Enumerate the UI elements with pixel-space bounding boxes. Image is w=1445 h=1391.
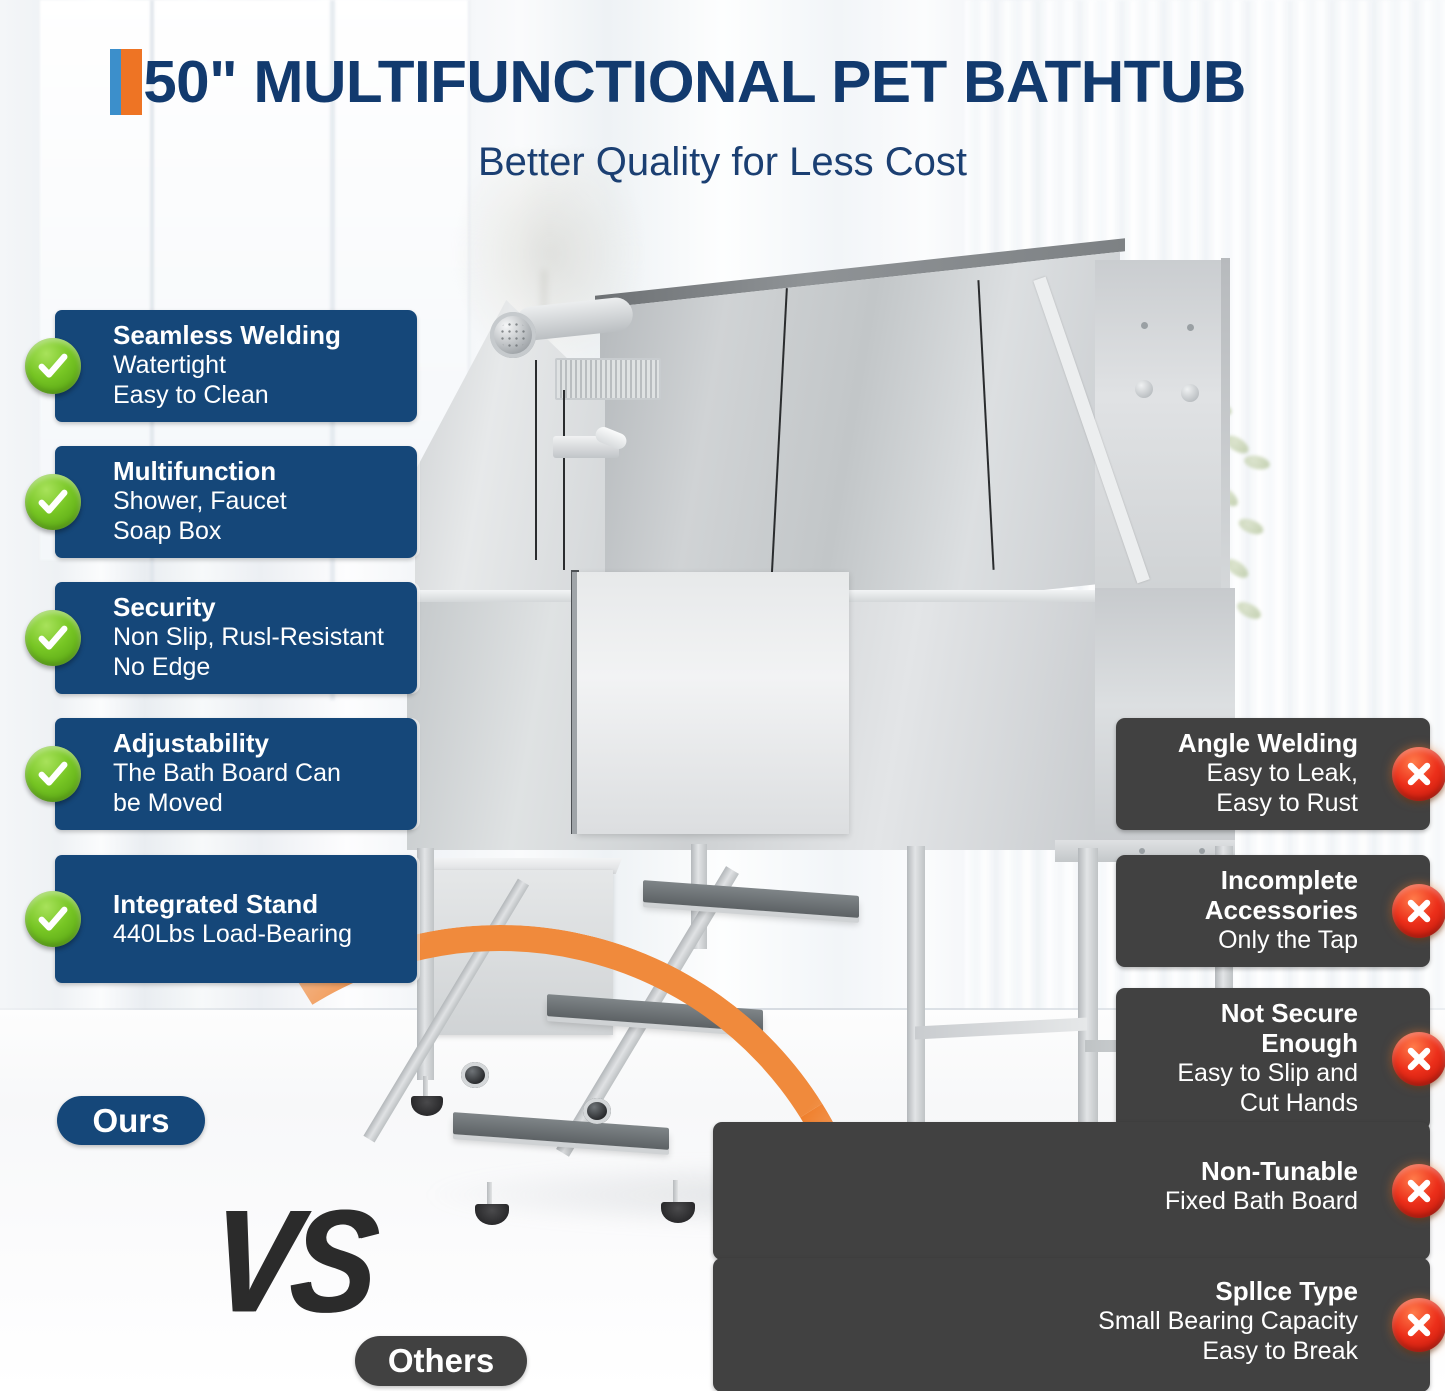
ours-badge: Ours [57,1096,205,1145]
feature-line: Non Slip, Rusl-Resistant [113,622,403,652]
stand-leg-4 [1078,848,1098,1168]
feature-title: Seamless Welding [113,320,403,350]
feature-line: 440Lbs Load-Bearing [113,919,403,949]
drawback-line: Easy to Leak, [1134,758,1358,788]
adjustable-foot-2 [475,1204,509,1225]
x-circle-icon [1392,884,1445,938]
check-circle-icon [25,746,81,802]
drawback-title: Not Secure [1134,998,1358,1028]
drawback-line: Fixed Bath Board [731,1186,1358,1216]
drawback-line: Easy to Slip and [1134,1058,1358,1088]
check-circle-icon [25,610,81,666]
caster-wheel-2 [583,1098,611,1124]
feature-box-integrated-stand[interactable]: Integrated Stand 440Lbs Load-Bearing [55,855,417,983]
feature-line: Soap Box [113,516,403,546]
feature-box-adjustability[interactable]: Adjustability The Bath Board Can be Move… [55,718,417,830]
stand-rail-cross [915,1017,1087,1039]
drawback-line: Only the Tap [1134,925,1358,955]
feature-line: The Bath Board Can [113,758,403,788]
feature-box-security[interactable]: Security Non Slip, Rusl-Resistant No Edg… [55,582,417,694]
product-image [395,240,1155,1250]
feature-title: Multifunction [113,456,403,486]
versus-mark: VS [205,1178,377,1346]
x-circle-icon [1392,1298,1445,1352]
adjustable-foot-3 [661,1202,695,1223]
drawback-line: Cut Hands [1134,1088,1358,1118]
page-title: 50" MULTIFUNCTIONAL PET BATHTUB [143,48,1246,116]
drawback-title2: Enough [1134,1028,1358,1058]
drawback-line: Easy to Rust [1134,788,1358,818]
side-wing-edge [1221,258,1230,608]
feature-box-multifunction[interactable]: Multifunction Shower, Faucet Soap Box [55,446,417,558]
infographic-page: 50" MULTIFUNCTIONAL PET BATHTUB Better Q… [0,0,1445,1391]
check-circle-icon [25,891,81,947]
drawback-title: Incomplete [1134,865,1358,895]
feature-line: No Edge [113,652,403,682]
drawback-box-incomplete-accessories[interactable]: Incomplete Accessories Only the Tap [1116,855,1430,967]
check-circle-icon [25,338,81,394]
shower-head-icon [490,312,536,358]
drawback-title: Spllce Type [731,1276,1358,1306]
caster-wheel-1 [461,1062,489,1088]
feature-title: Adjustability [113,728,403,758]
side-wing-panel [1095,260,1230,600]
drawback-box-not-secure-enough[interactable]: Not Secure Enough Easy to Slip and Cut H… [1116,988,1430,1130]
check-circle-icon [25,474,81,530]
x-circle-icon [1392,1032,1445,1086]
feature-title: Integrated Stand [113,889,403,919]
feature-box-seamless-welding[interactable]: Seamless Welding Watertight Easy to Clea… [55,310,417,422]
drawback-box-spllce-type[interactable]: Spllce Type Small Bearing Capacity Easy … [713,1258,1430,1391]
feature-title: Security [113,592,403,622]
page-subtitle: Better Quality for Less Cost [0,140,1445,185]
feature-line: Shower, Faucet [113,486,403,516]
x-circle-icon [1392,1164,1445,1218]
drawback-box-angle-welding[interactable]: Angle Welding Easy to Leak, Easy to Rust [1116,718,1430,830]
feature-line: Easy to Clean [113,380,403,410]
drawback-box-non-tunable[interactable]: Non-Tunable Fixed Bath Board [713,1122,1430,1260]
drawback-title2: Accessories [1134,895,1358,925]
title-accent-bars [110,49,142,115]
x-circle-icon [1392,747,1445,801]
others-badge: Others [355,1336,527,1386]
adjustable-foot-1 [411,1096,443,1116]
step-tread-top [643,880,859,918]
header: 50" MULTIFUNCTIONAL PET BATHTUB Better Q… [0,0,1445,210]
stand-leg-3 [907,846,925,1146]
bath-board [577,572,849,834]
drawback-line: Easy to Break [731,1336,1358,1366]
drawback-title: Non-Tunable [731,1156,1358,1186]
feature-line: be Moved [113,788,403,818]
drawer-handle [453,930,548,950]
feature-line: Watertight [113,350,403,380]
drawback-line: Small Bearing Capacity [731,1306,1358,1336]
drawback-title: Angle Welding [1134,728,1358,758]
